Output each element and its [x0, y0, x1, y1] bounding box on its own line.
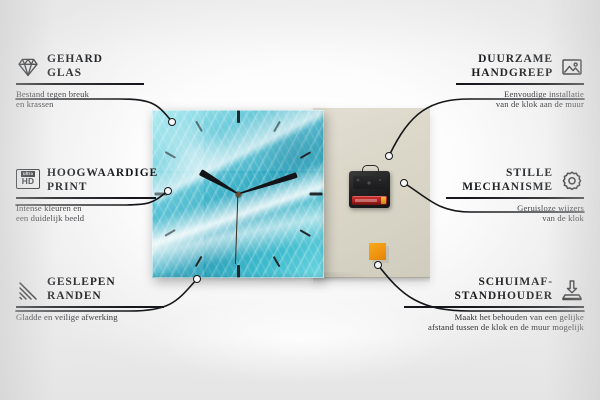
feature-title: GEHARDGLAS: [47, 53, 103, 80]
callout-dot-hoogwaardige-print: [164, 187, 172, 195]
feature-subtitle: Bestand tegen breuken krassen: [16, 89, 144, 110]
feature-duurzame-handgreep: DUURZAMEHANDGREEP Eenvoudige installatie…: [456, 53, 584, 110]
spacer-pad-icon: [560, 278, 584, 302]
callout-dot-geslepen-randen: [193, 275, 201, 283]
callout-dot-gehard-glas: [168, 118, 176, 126]
feature-title: STILLEMECHANISME: [462, 167, 553, 194]
gear-icon: [560, 169, 584, 193]
callout-dot-duurzame-handgreep: [385, 152, 393, 160]
beveled-edges-icon: [16, 278, 40, 302]
feature-subtitle: Maakt het behouden van een gelijkeafstan…: [404, 312, 584, 333]
feature-title: HOOGWAARDIGEPRINT: [47, 167, 158, 194]
feature-title: SCHUIMAF-STANDHOUDER: [454, 276, 553, 303]
feature-divider: [446, 197, 584, 199]
callout-dot-stille-mechanisme: [400, 179, 408, 187]
feature-title: DUURZAMEHANDGREEP: [471, 53, 553, 80]
ultra-hd-icon: ultra HD: [16, 169, 40, 193]
picture-frame-icon: [560, 55, 584, 79]
feature-gehard-glas: GEHARDGLAS Bestand tegen breuken krassen: [16, 53, 144, 110]
feature-geslepen-randen: GESLEPENRANDEN Gladde en veilige afwerki…: [16, 276, 164, 322]
feature-divider: [16, 83, 144, 85]
callout-dot-schuimafstandhouder: [374, 261, 382, 269]
feature-schuimafstandhouder: SCHUIMAF-STANDHOUDER Maakt het behouden …: [404, 276, 584, 333]
feature-stille-mechanisme: STILLEMECHANISME Geruisloze wijzersvan d…: [446, 167, 584, 224]
feature-divider: [456, 83, 584, 85]
diamond-icon: [16, 55, 40, 79]
feature-subtitle: Geruisloze wijzersvan de klok: [446, 203, 584, 224]
feature-subtitle: Eenvoudige installatievan de klok aan de…: [456, 89, 584, 110]
product-infographic: GEHARDGLAS Bestand tegen breuken krassen…: [0, 0, 600, 400]
feature-divider: [16, 197, 156, 199]
feature-subtitle: Gladde en veilige afwerking: [16, 312, 164, 323]
feature-title: GESLEPENRANDEN: [47, 276, 116, 303]
ultra-hd-label: HD: [22, 177, 35, 186]
feature-divider: [16, 306, 164, 308]
feature-hoogwaardige-print: ultra HD HOOGWAARDIGEPRINT Intense kleur…: [16, 167, 156, 224]
feature-subtitle: Intense kleuren eneen duidelijk beeld: [16, 203, 156, 224]
feature-divider: [404, 306, 584, 308]
